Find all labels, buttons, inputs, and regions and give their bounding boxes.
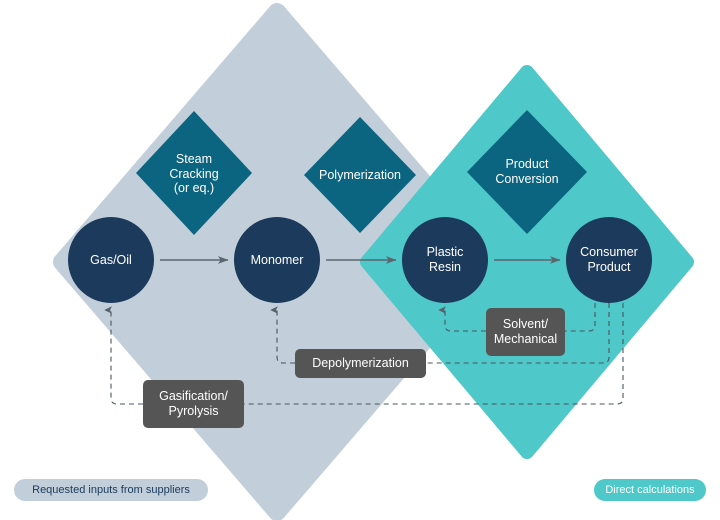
- gasification-pyrolysis-box[interactable]: [143, 380, 244, 428]
- solvent-mechanical-box[interactable]: [486, 308, 565, 356]
- recycle-box-layer: [0, 0, 720, 520]
- legend-requested-inputs[interactable]: Requested inputs from suppliers: [14, 479, 208, 501]
- diagram-canvas: Gas/Oil Monomer Plastic Resin Consumer P…: [0, 0, 720, 520]
- legend-direct-calculations[interactable]: Direct calculations: [594, 479, 706, 501]
- legend-direct-calculations-label: Direct calculations: [605, 484, 694, 496]
- depolymerization-box[interactable]: [295, 349, 426, 378]
- legend-requested-inputs-label: Requested inputs from suppliers: [32, 484, 190, 496]
